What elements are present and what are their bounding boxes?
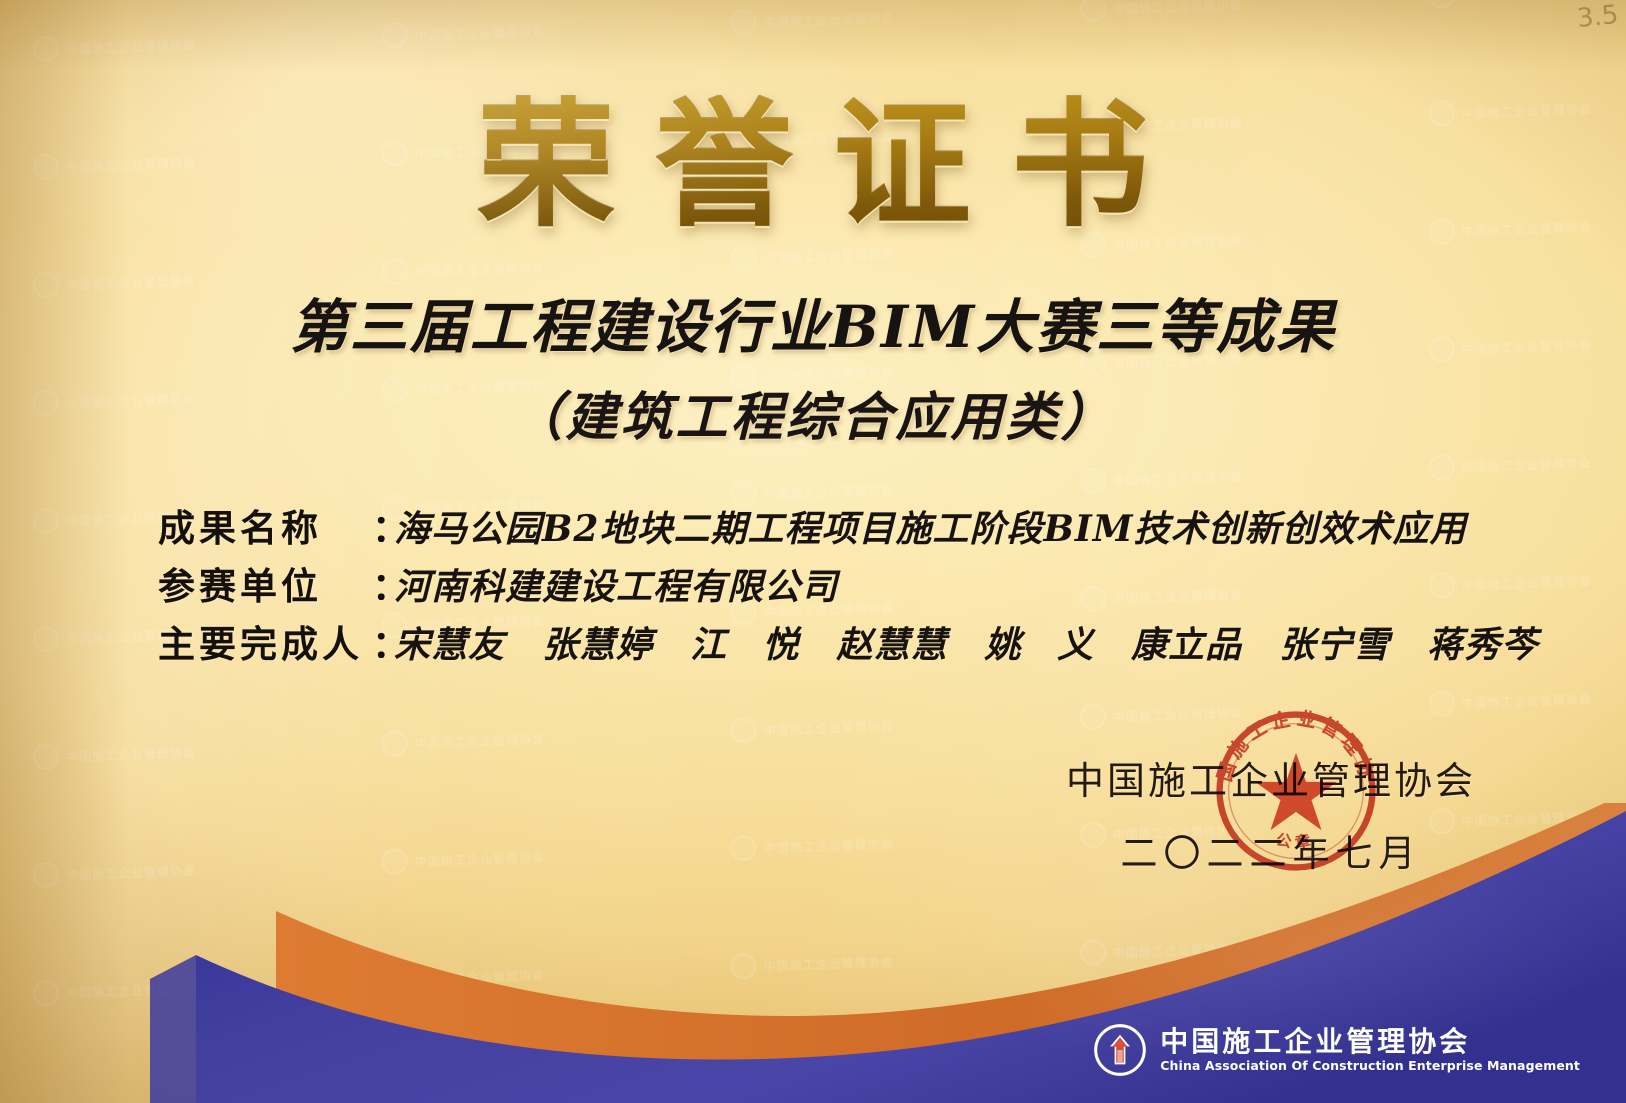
field-label-participating-unit: 参赛单位 — [158, 556, 372, 610]
organization-footer: 中国施工企业管理协会 China Association Of Construc… — [1093, 1023, 1580, 1077]
field-label-achievement-name: 成果名称 — [158, 498, 372, 552]
association-name-cn: 中国施工企业管理协会 — [1160, 1027, 1580, 1057]
association-logo-icon — [1093, 1023, 1147, 1077]
top-edge-shadow — [0, 0, 1626, 70]
field-row-achievement-name: 成果名称 ： 海马公园B2地块二期工程项目施工阶段BIM技术创新创效术应用 — [158, 498, 1526, 556]
award-title: 第三届工程建设行业BIM大赛三等成果 — [0, 298, 1626, 356]
field-colon-main-contributors: ： — [372, 614, 394, 668]
field-row-main-contributors: 主要完成人 ： 宋慧友 张慧婷 江 悦 赵慧慧 姚 义 康立品 张宁雪 蒋秀芩 — [158, 614, 1526, 672]
field-row-participating-unit: 参赛单位 ： 河南科建建设工程有限公司 — [158, 556, 1526, 614]
svg-text:公章: 公章 — [1275, 830, 1318, 853]
corner-pencil-mark: 3.5 — [1575, 0, 1619, 34]
field-colon-achievement-name: ： — [372, 498, 394, 552]
certificate-fields: 成果名称 ： 海马公园B2地块二期工程项目施工阶段BIM技术创新创效术应用 参赛… — [158, 498, 1526, 672]
field-value-participating-unit: 河南科建建设工程有限公司 — [394, 558, 1526, 610]
award-category: （建筑工程综合应用类） — [0, 392, 1626, 444]
field-label-main-contributors: 主要完成人 — [158, 614, 372, 668]
field-value-achievement-name: 海马公园B2地块二期工程项目施工阶段BIM技术创新创效术应用 — [394, 500, 1526, 552]
certificate-main-title: 荣誉证书 — [0, 96, 1626, 234]
field-colon-participating-unit: ： — [372, 556, 394, 610]
association-name-en: China Association Of Construction Enterp… — [1160, 1059, 1580, 1073]
certificate-photo: 中国施工企业管理协会中国施工企业管理协会中国施工企业管理协会中国施工企业管理协会… — [0, 0, 1626, 1103]
official-seal-icon: 中国施工企业管理协会 公章 — [1205, 700, 1387, 882]
field-value-main-contributors: 宋慧友 张慧婷 江 悦 赵慧慧 姚 义 康立品 张宁雪 蒋秀芩 — [394, 616, 1538, 668]
